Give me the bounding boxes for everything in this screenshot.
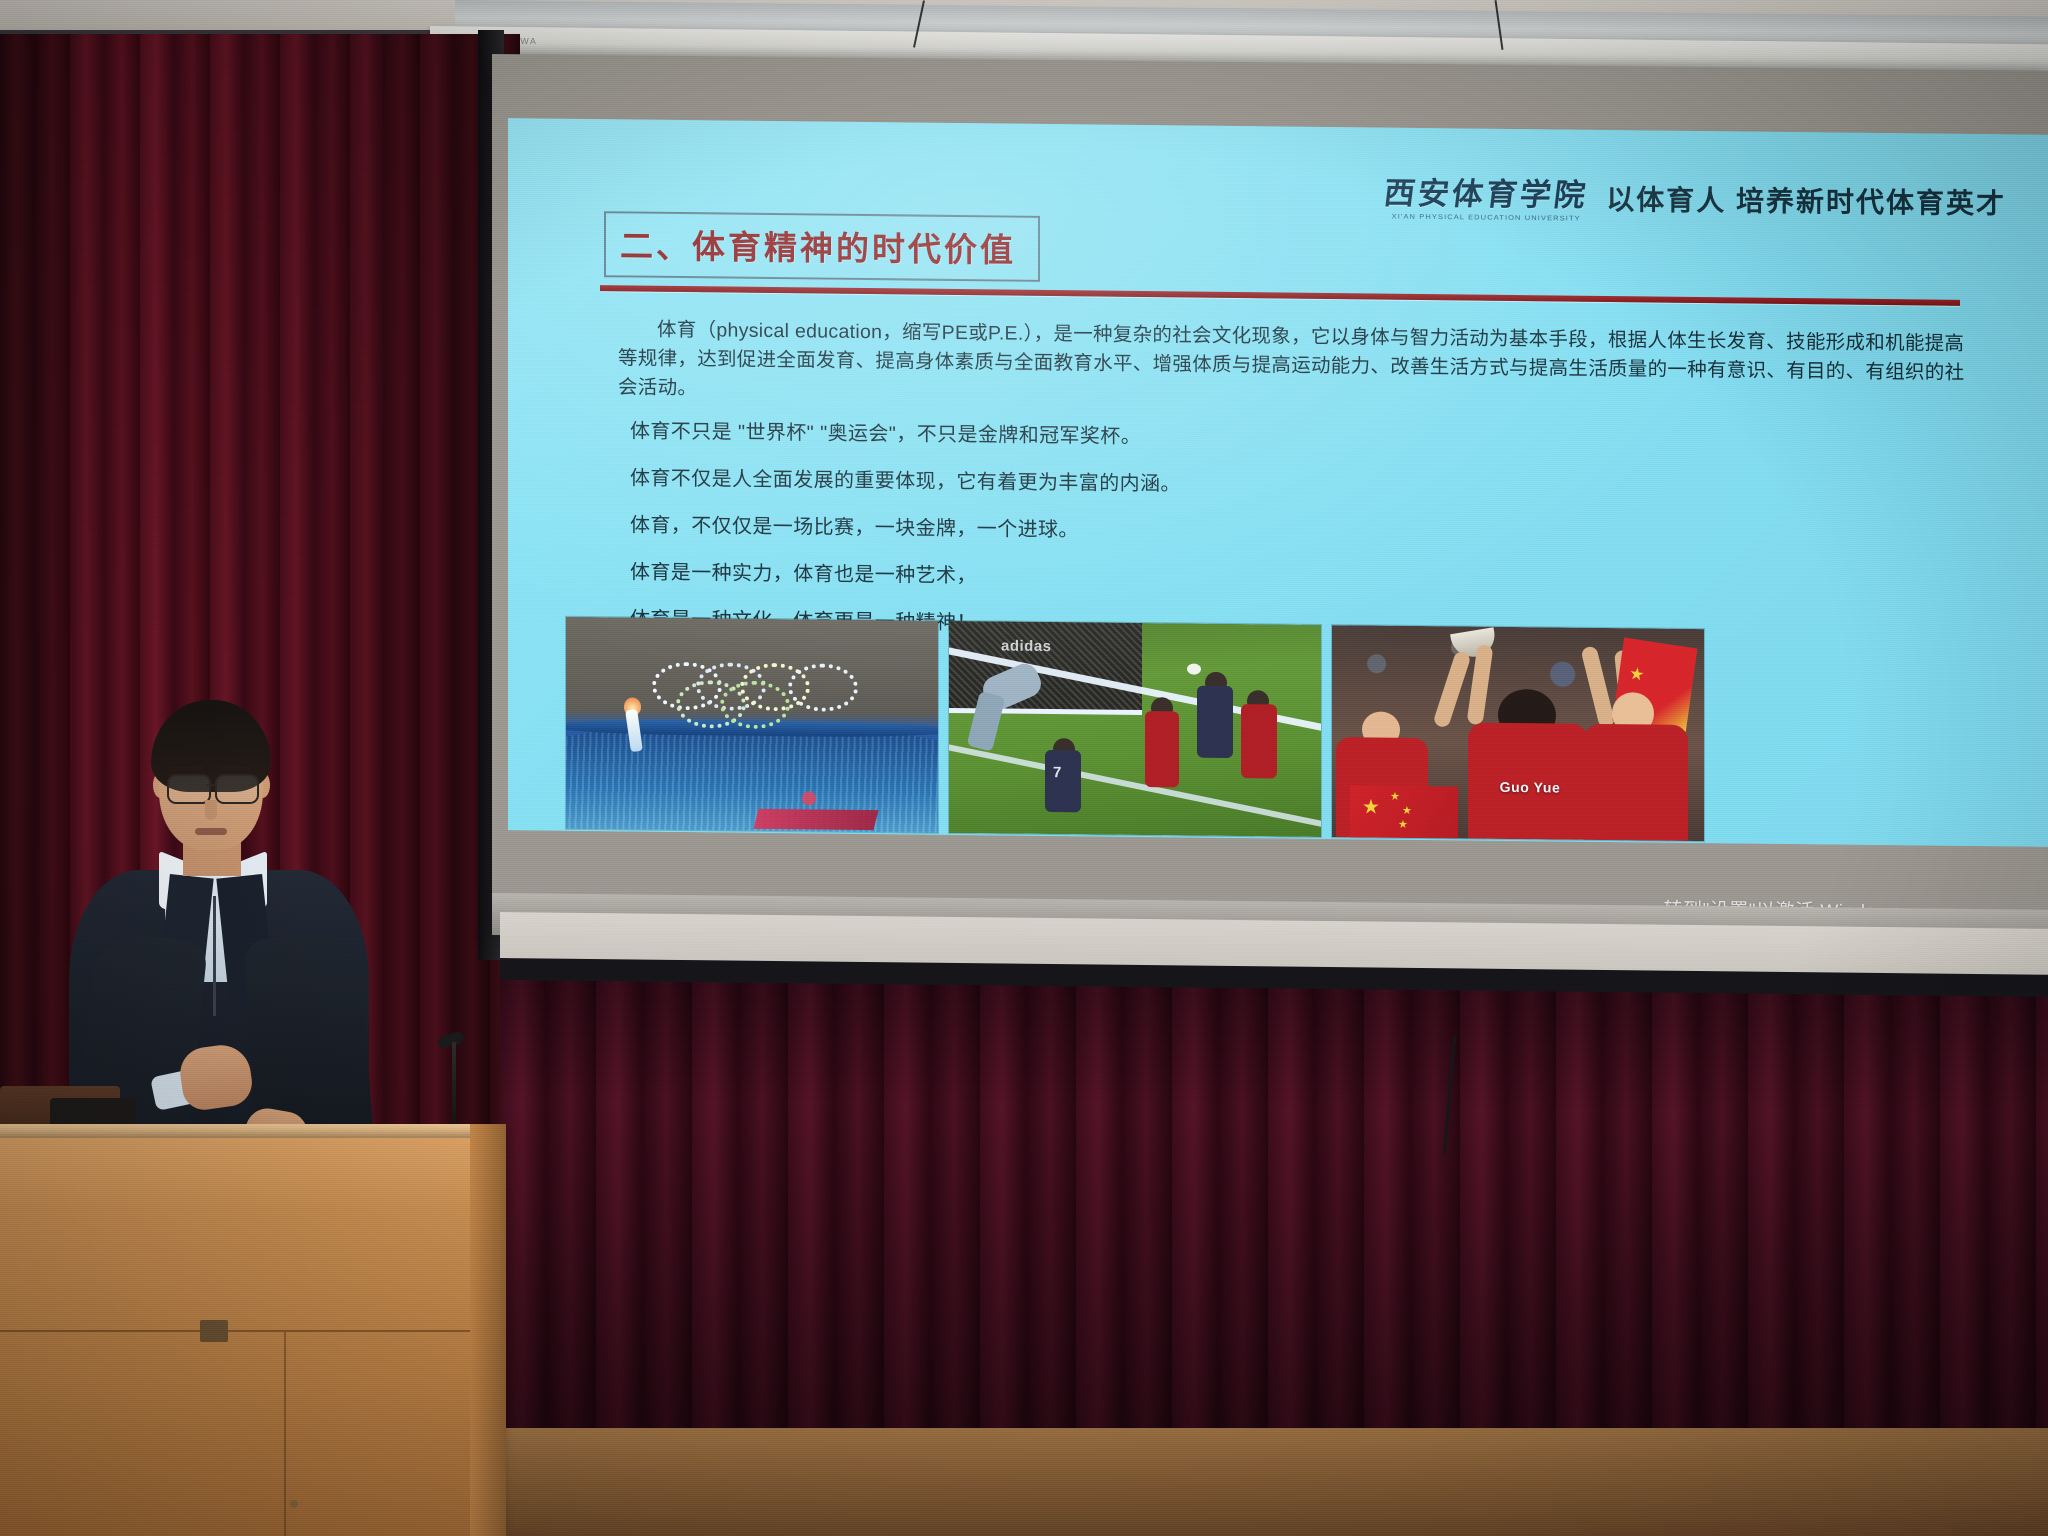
photo2-ball-icon xyxy=(1187,664,1201,675)
jersey-name-label: Guo Yue xyxy=(1484,779,1576,796)
school-motto: 以体育人 培养新时代体育英才 xyxy=(1606,178,2006,226)
photo2-player-red xyxy=(1145,711,1179,787)
olympic-ring-icon xyxy=(720,680,790,729)
photo-football-match: adidas 7 xyxy=(949,621,1321,837)
podium-latch xyxy=(200,1320,228,1342)
photo-team-celebration: ★ ★ ★ ★ ★ Guo Yue 激 xyxy=(1332,625,1704,841)
presentation-slide: 西安体育学院 XI'AN PHYSICAL EDUCATION UNIVERSI… xyxy=(508,118,2048,847)
body-line-3: 体育，不仅仅是一场比赛，一块金牌，一个进球。 xyxy=(618,510,1978,555)
flag-star-icon: ★ xyxy=(1398,820,1408,831)
photo3-athlete-right xyxy=(1584,724,1688,841)
flag-star-icon: ★ xyxy=(1390,792,1400,803)
slide-title-box: 二、体育精神的时代价值 xyxy=(604,211,1040,282)
slide-title: 二、体育精神的时代价值 xyxy=(620,219,1016,271)
podium-side-edge xyxy=(470,1124,506,1536)
body-line-1: 体育不只是 "世界杯" "奥运会"，不只是金牌和冠军奖杯。 xyxy=(618,416,1978,461)
photo-olympic-fireworks xyxy=(566,617,938,833)
slide-body: 体育（physical education，缩写PE或P.E.），是一种复杂的社… xyxy=(618,315,1978,666)
podium-knob xyxy=(290,1500,298,1508)
flag-star-icon: ★ xyxy=(1628,665,1645,684)
olympic-ring-icon xyxy=(788,663,858,712)
photo2-player-blue-7 xyxy=(1045,750,1081,812)
photo1-stadium-stands xyxy=(566,722,938,832)
presenter-nose xyxy=(205,800,217,820)
podium-seam-vertical xyxy=(284,1332,286,1536)
projection-screen: 西安体育学院 XI'AN PHYSICAL EDUCATION UNIVERSI… xyxy=(492,54,2048,947)
photo2-adidas-label: adidas xyxy=(1001,638,1052,656)
school-logo-cn: 西安体育学院 xyxy=(1382,177,1590,210)
flag-star-icon: ★ xyxy=(1402,806,1412,817)
podium-seam xyxy=(0,1330,502,1332)
school-logo: 西安体育学院 XI'AN PHYSICAL EDUCATION UNIVERSI… xyxy=(1384,177,1588,222)
photo2-player-red xyxy=(1241,704,1277,778)
stage-floor xyxy=(430,1428,2048,1536)
photo1-banner xyxy=(754,809,879,830)
stage-curtain-lower xyxy=(500,980,2048,1477)
presenter-mouth xyxy=(195,828,227,835)
slide-photo-strip: adidas 7 xyxy=(566,617,1986,847)
school-logo-row: 西安体育学院 XI'AN PHYSICAL EDUCATION UNIVERSI… xyxy=(1384,176,2006,227)
photo2-jersey-number: 7 xyxy=(1053,764,1061,781)
photo2-player-blue xyxy=(1197,686,1233,758)
chinese-flag-icon: ★ ★ ★ ★ xyxy=(1350,785,1458,841)
body-paragraph: 体育（physical education，缩写PE或P.E.），是一种复杂的社… xyxy=(618,315,1978,417)
glasses-bridge xyxy=(207,784,215,786)
presenter-zipper xyxy=(213,896,216,1016)
glasses-icon xyxy=(215,774,259,804)
school-logo-en: XI'AN PHYSICAL EDUCATION UNIVERSITY xyxy=(1392,213,1581,222)
body-line-4: 体育是一种实力，体育也是一种艺术， xyxy=(618,557,1978,602)
body-line-2: 体育不仅是人全面发展的重要体现，它有着更为丰富的内涵。 xyxy=(618,463,1978,508)
photo1-emblem-icon xyxy=(802,791,816,805)
flag-star-icon: ★ xyxy=(1362,797,1380,817)
podium xyxy=(0,1138,502,1536)
lecture-hall-scene: ANWA 西安体育学院 XI'AN PHYSICAL EDUCATION UNI… xyxy=(0,0,2048,1536)
